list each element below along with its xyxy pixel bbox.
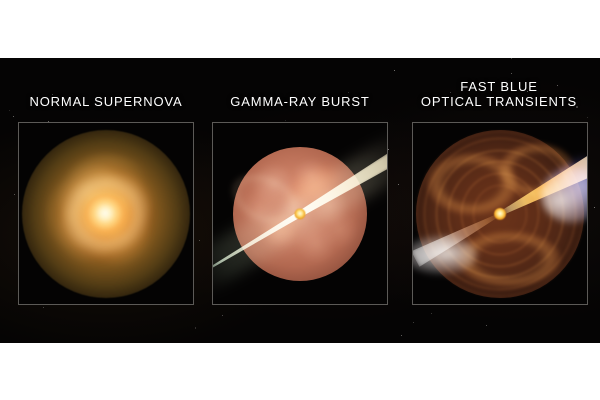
star <box>195 327 197 329</box>
star <box>13 116 14 117</box>
star <box>511 73 512 74</box>
panel-1-artwork <box>19 123 193 304</box>
panel-3-artwork <box>413 123 587 304</box>
star <box>394 70 395 71</box>
supernova-core <box>84 194 128 234</box>
star <box>222 315 223 316</box>
star <box>9 110 10 111</box>
label-normal-supernova: NORMAL SUPERNOVA <box>0 94 212 109</box>
grb-core <box>295 208 306 219</box>
label-gamma-ray-burst: GAMMA-RAY BURST <box>200 94 400 109</box>
fbot-central-engine <box>494 208 506 220</box>
star <box>594 207 595 208</box>
star <box>413 322 414 323</box>
panel-normal-supernova <box>18 122 194 305</box>
figure-canvas: NORMAL SUPERNOVA GAMMA-RAY BURST FAST BL… <box>0 0 600 400</box>
star <box>398 184 399 185</box>
star <box>199 240 200 241</box>
star <box>43 307 44 308</box>
star <box>401 335 402 336</box>
astronomy-plate: NORMAL SUPERNOVA GAMMA-RAY BURST FAST BL… <box>0 58 600 343</box>
panel-fast-blue-optical-transients <box>412 122 588 305</box>
star <box>486 325 487 326</box>
star <box>14 194 15 195</box>
panel-2-artwork <box>213 123 387 304</box>
star <box>431 313 432 314</box>
star <box>285 120 286 121</box>
star <box>511 58 512 59</box>
panel-gamma-ray-burst <box>212 122 388 305</box>
label-fast-blue-optical-transients: FAST BLUE OPTICAL TRANSIENTS <box>398 79 600 109</box>
star <box>587 117 588 118</box>
